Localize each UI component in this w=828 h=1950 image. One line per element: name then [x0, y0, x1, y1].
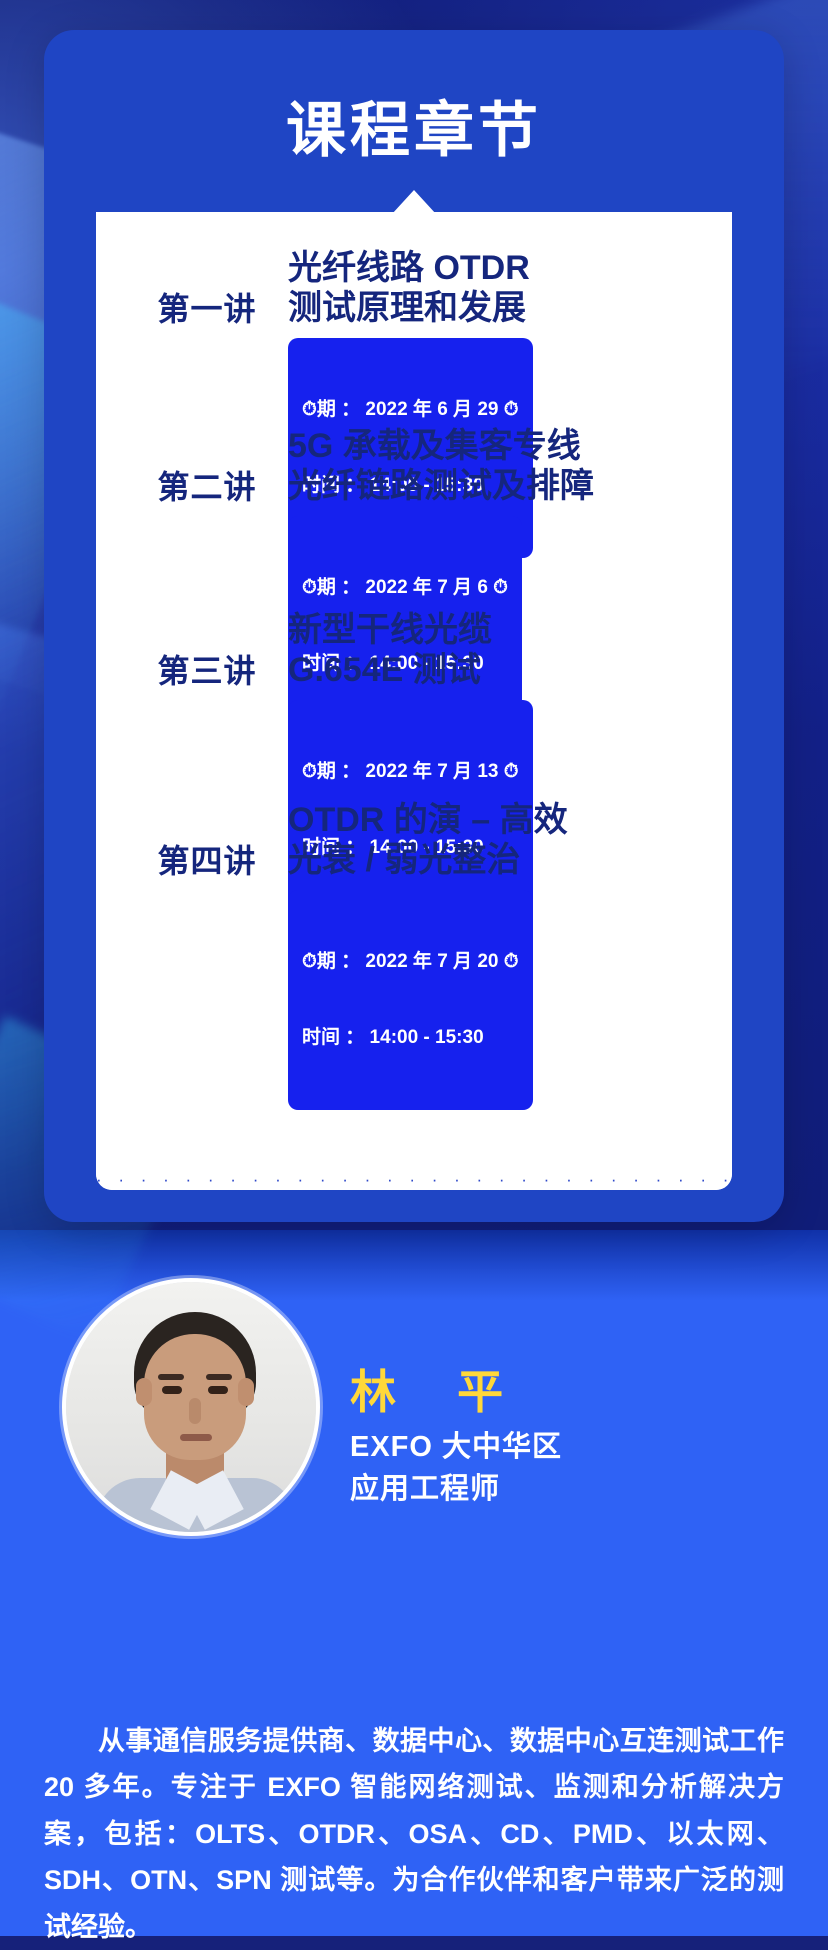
lecture-date: ⏱期 ： 2022 年 6 月 29 ⏱: [302, 397, 519, 423]
lecture-label: 第四讲: [132, 800, 282, 918]
speaker-bio: 从事通信服务提供商、数据中心、数据中心互连测试工作 20 多年。专注于 EXFO…: [44, 1718, 784, 1950]
avatar: [62, 1278, 320, 1536]
photo-eye-right: [208, 1386, 228, 1394]
photo-nose: [189, 1398, 201, 1424]
speaker-photo: [66, 1282, 316, 1532]
photo-eye-left: [162, 1386, 182, 1394]
photo-face: [144, 1334, 246, 1460]
lecture-row[interactable]: 第三讲 新型干线光缆 G.654E 测试 ⏱期 ： 2022 年 7 月 13 …: [96, 606, 732, 794]
lecture-title: OTDR 的演 – 高效 光衰 / 弱光整治: [288, 800, 732, 880]
lecture-title: 光纤线路 OTDR 测试原理和发展: [288, 248, 732, 328]
lecture-label: 第二讲: [132, 426, 282, 544]
speaker-name: 林 平: [350, 1356, 505, 1422]
photo-mouth: [180, 1434, 212, 1441]
photo-eyebrow-right: [206, 1374, 232, 1380]
lecture-time: 时间 ： 14:00 - 15:30: [302, 1025, 519, 1051]
lecture-datetime-badge: ⏱期 ： 2022 年 7 月 20 ⏱ 时间 ： 14:00 - 15:30: [288, 890, 533, 1110]
photo-eyebrow-left: [158, 1374, 184, 1380]
lecture-date: ⏱期 ： 2022 年 7 月 20 ⏱: [302, 949, 519, 975]
lecture-label: 第三讲: [132, 610, 282, 728]
dotted-divider: · · · · · · · · · · · · · · · · · · · · …: [96, 1170, 732, 1190]
photo-ear-left: [136, 1378, 152, 1406]
speaker-role: EXFO 大中华区 应用工程师: [350, 1426, 780, 1510]
lecture-date: ⏱期 ： 2022 年 7 月 6 ⏱: [302, 575, 508, 601]
lecture-row[interactable]: 第二讲 5G 承载及集客专线 光纤链路测试及排障 ⏱期 ： 2022 年 7 月…: [96, 426, 732, 606]
speaker-section: 林 平 EXFO 大中华区 应用工程师: [0, 1248, 828, 1678]
lecture-title: 新型干线光缆 G.654E 测试: [288, 610, 732, 690]
lecture-label: 第一讲: [132, 248, 282, 366]
lecture-body: OTDR 的演 – 高效 光衰 / 弱光整治 ⏱期 ： 2022 年 7 月 2…: [282, 800, 732, 1110]
lecture-title: 5G 承载及集客专线 光纤链路测试及排障: [288, 426, 732, 506]
lecture-row[interactable]: 第一讲 光纤线路 OTDR 测试原理和发展 ⏱期 ： 2022 年 6 月 29…: [96, 226, 732, 426]
lecture-row[interactable]: 第四讲 OTDR 的演 – 高效 光衰 / 弱光整治 ⏱期 ： 2022 年 7…: [96, 794, 732, 974]
page-title: 课程章节: [44, 82, 784, 169]
lecture-list: 第一讲 光纤线路 OTDR 测试原理和发展 ⏱期 ： 2022 年 6 月 29…: [96, 226, 732, 974]
photo-ear-right: [238, 1378, 254, 1406]
lecture-date: ⏱期 ： 2022 年 7 月 13 ⏱: [302, 759, 519, 785]
course-schedule-card: 课程章节 第一讲 光纤线路 OTDR 测试原理和发展 ⏱期 ： 2022 年 6…: [44, 30, 784, 1222]
